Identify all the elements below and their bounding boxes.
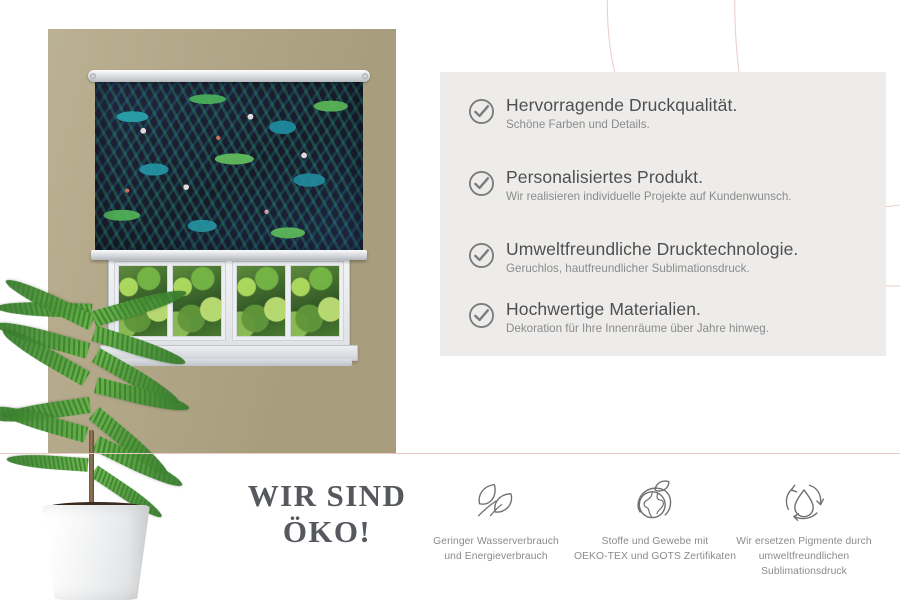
feature-item: Personalisiertes Produkt. Wir realisiere…	[468, 168, 792, 204]
white-plant-pot	[42, 505, 150, 600]
palm-frond	[92, 285, 189, 327]
feature-item: Hochwertige Materialien. Dekoration für …	[468, 300, 769, 336]
eco-headline-line1: WIR SIND	[222, 478, 432, 514]
check-circle-icon	[468, 242, 495, 274]
eco-item: Stoffe und Gewebe mit OEKO-TEX und GOTS …	[569, 472, 741, 565]
eco-caption: Geringer Wasserverbrauch und Energieverb…	[410, 535, 582, 565]
features-panel: Hervorragende Druckqualität. Schöne Farb…	[440, 72, 886, 356]
product-scene	[0, 0, 430, 455]
feature-title: Personalisiertes Produkt.	[506, 167, 703, 187]
eco-headline-line2: ÖKO!	[222, 514, 432, 550]
palm-frond	[6, 453, 88, 472]
leaves-icon	[410, 472, 582, 530]
check-circle-icon	[468, 170, 495, 202]
feature-subtitle: Schöne Farben und Details.	[506, 118, 737, 132]
feature-title: Umweltfreundliche Drucktechnologie.	[506, 239, 798, 259]
eco-caption-line2: OEKO-TEX und GOTS Zertifikaten	[569, 550, 741, 565]
eco-caption-line1: Stoffe und Gewebe mit	[569, 535, 741, 550]
eco-caption-line1: Geringer Wasserverbrauch	[410, 535, 582, 550]
check-circle-icon	[468, 98, 495, 130]
window-sash-right	[232, 261, 344, 341]
eco-item: Geringer Wasserverbrauch und Energieverb…	[410, 472, 582, 565]
globe-leaf-icon	[569, 472, 741, 530]
window-pane	[236, 265, 286, 337]
feature-subtitle: Geruchlos, hautfreundlicher Sublimations…	[506, 262, 798, 276]
roller-blind	[88, 70, 370, 262]
eco-caption: Stoffe und Gewebe mit OEKO-TEX und GOTS …	[569, 535, 741, 565]
window-pane	[290, 265, 340, 337]
eco-caption-line3: Sublimationsdruck	[718, 565, 890, 580]
roller-blind-tropical-fabric	[95, 78, 363, 254]
horizontal-divider	[0, 453, 900, 454]
feature-subtitle: Wir realisieren individuelle Projekte au…	[506, 190, 792, 204]
feature-item: Hervorragende Druckqualität. Schöne Farb…	[468, 96, 737, 132]
water-drop-recycle-icon	[718, 472, 890, 530]
eco-caption: Wir ersetzen Pigmente durch umweltfreund…	[718, 535, 890, 580]
feature-title: Hervorragende Druckqualität.	[506, 95, 737, 115]
eco-caption-line2: und Energieverbrauch	[410, 550, 582, 565]
roller-blind-bottom-bar	[91, 250, 367, 260]
feature-title: Hochwertige Materialien.	[506, 299, 701, 319]
tube-end-cap-left	[90, 73, 96, 79]
feature-subtitle: Dekoration für Ihre Innenräume über Jahr…	[506, 322, 769, 336]
eco-headline: WIR SIND ÖKO!	[222, 478, 432, 550]
check-circle-icon	[468, 302, 495, 334]
potted-plant	[0, 285, 212, 600]
eco-caption-line1: Wir ersetzen Pigmente durch	[718, 535, 890, 550]
plant-trunk	[89, 430, 94, 508]
feature-item: Umweltfreundliche Drucktechnologie. Geru…	[468, 240, 798, 276]
eco-caption-line2: umweltfreundlichen	[718, 550, 890, 565]
roller-blind-tube	[88, 70, 370, 82]
eco-item: Wir ersetzen Pigmente durch umweltfreund…	[718, 472, 890, 580]
poster-canvas: Hervorragende Druckqualität. Schöne Farb…	[0, 0, 900, 600]
tube-end-cap-right	[362, 73, 368, 79]
